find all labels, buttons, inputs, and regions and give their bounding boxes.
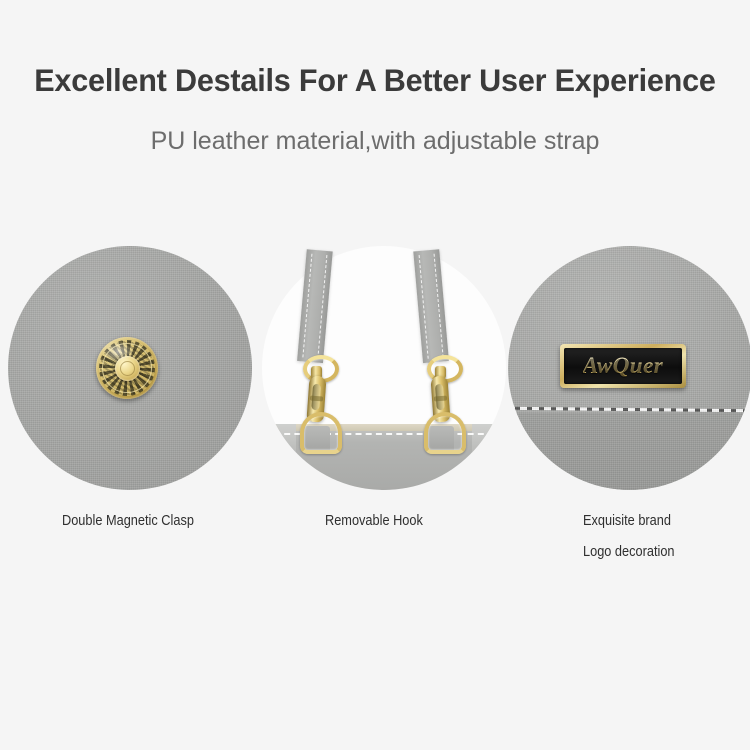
bag-top-edge — [262, 424, 506, 431]
brand-logo-plate: AwQuer — [560, 344, 686, 388]
page-title: Excellent Destails For A Better User Exp… — [11, 62, 739, 99]
bag-d-loop-left — [300, 412, 342, 454]
bag-gusset-right — [472, 424, 506, 454]
page-subtitle: PU leather material,with adjustable stra… — [0, 127, 750, 156]
magnetic-clasp-button — [96, 337, 158, 399]
bag-gusset-left — [262, 424, 296, 454]
feature-caption-brand-line2: Logo decoration — [583, 544, 675, 560]
bag-body — [262, 424, 506, 490]
bag-d-loop-right — [424, 412, 466, 454]
leather-lower-panel — [508, 413, 750, 490]
product-detail-infographic: Excellent Destails For A Better User Exp… — [0, 0, 750, 750]
clasp-highlight — [102, 341, 134, 362]
feature-caption-removable-hook: Removable Hook — [325, 513, 423, 529]
logo-plate-inner: AwQuer — [564, 348, 682, 384]
brand-name-text: AwQuer — [583, 353, 664, 379]
feature-caption-brand-line1: Exquisite brand — [583, 513, 671, 529]
feature-caption-double-magnetic-clasp: Double Magnetic Clasp — [62, 513, 194, 529]
leather-panel-stitching — [508, 407, 750, 413]
feature-photo-removable-hook — [262, 246, 506, 490]
